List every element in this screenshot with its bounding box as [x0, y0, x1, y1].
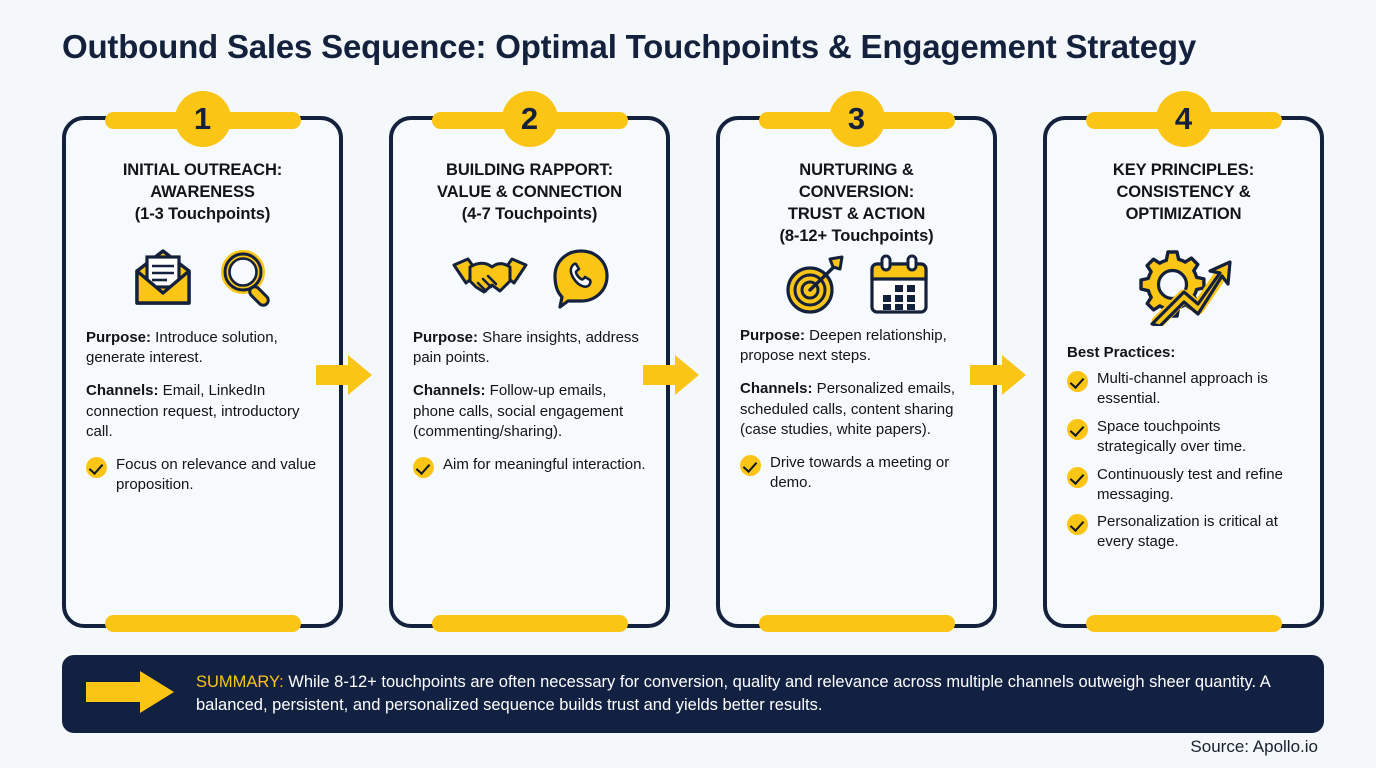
bullet-text: Multi-channel approach is essential. — [1097, 369, 1300, 409]
bullet-text: Personalization is critical at every sta… — [1097, 512, 1300, 552]
list-item: Multi-channel approach is essential. — [1067, 369, 1300, 409]
connector-arrow-1-2 — [316, 353, 372, 397]
card-body: Purpose: Introduce solution, generate in… — [82, 328, 323, 495]
card-heading: NURTURING & CONVERSION: TRUST & ACTION (… — [736, 160, 977, 248]
card-bottom-bar — [1086, 615, 1282, 632]
check-icon — [1067, 371, 1088, 392]
stage-card-4[interactable]: 4 KEY PRINCIPLES: CONSISTENCY & OPTIMIZA… — [1043, 116, 1324, 628]
channels-label: Channels: — [413, 382, 486, 399]
gear-growth-arrow-icon — [1132, 244, 1236, 326]
best-practices-label: Best Practices: — [1067, 344, 1300, 361]
step-number-badge: 2 — [502, 91, 558, 147]
summary-body: While 8-12+ touchpoints are often necess… — [196, 673, 1270, 714]
card-icon-row — [1063, 242, 1304, 328]
card-heading-line-1: KEY PRINCIPLES: — [1063, 160, 1304, 182]
list-item: Focus on relevance and value proposition… — [86, 455, 319, 495]
card-heading-line-2: CONVERSION: — [736, 182, 977, 204]
stage-card-1[interactable]: 1 INITIAL OUTREACH: AWARENESS (1-3 Touch… — [62, 116, 343, 628]
calendar-icon — [867, 254, 931, 316]
magnifier-icon — [217, 247, 279, 309]
check-icon — [740, 455, 761, 476]
card-bullets: Focus on relevance and value proposition… — [86, 455, 319, 495]
channels-paragraph: Channels: Follow-up emails, phone calls,… — [413, 381, 646, 442]
card-heading-touchpoints: (4-7 Touchpoints) — [409, 204, 650, 226]
card-icon-row — [409, 238, 650, 318]
card-heading-line-2b: OPTIMIZATION — [1063, 204, 1304, 226]
card-bottom-bar — [432, 615, 628, 632]
bullet-text: Continuously test and refine messaging. — [1097, 465, 1300, 505]
check-icon — [1067, 514, 1088, 535]
channels-paragraph: Channels: Personalized emails, scheduled… — [740, 379, 973, 440]
summary-keyword: SUMMARY: — [196, 673, 284, 691]
purpose-paragraph: Purpose: Share insights, address pain po… — [413, 328, 646, 369]
connector-arrow-3-4 — [970, 353, 1026, 397]
summary-arrow-icon — [84, 669, 176, 720]
card-heading-line-2: CONSISTENCY & — [1063, 182, 1304, 204]
card-heading-line-2: VALUE & CONNECTION — [409, 182, 650, 204]
card-icon-row — [82, 238, 323, 318]
page-title: Outbound Sales Sequence: Optimal Touchpo… — [62, 28, 1342, 66]
list-item: Personalization is critical at every sta… — [1067, 512, 1300, 552]
handshake-icon — [448, 249, 532, 307]
card-bullets: Drive towards a meeting or demo. — [740, 453, 973, 493]
purpose-label: Purpose: — [740, 327, 805, 344]
source-label: Source: Apollo.io — [1190, 737, 1318, 757]
step-number-badge: 3 — [829, 91, 885, 147]
check-icon — [1067, 467, 1088, 488]
card-bottom-bar — [105, 615, 301, 632]
card-heading-touchpoints: (1-3 Touchpoints) — [82, 204, 323, 226]
card-heading: INITIAL OUTREACH: AWARENESS (1-3 Touchpo… — [82, 160, 323, 226]
list-item: Continuously test and refine messaging. — [1067, 465, 1300, 505]
summary-bar: SUMMARY: While 8-12+ touchpoints are oft… — [62, 655, 1324, 733]
purpose-label: Purpose: — [86, 329, 151, 346]
stage-card-2[interactable]: 2 BUILDING RAPPORT: VALUE & CONNECTION (… — [389, 116, 670, 628]
card-heading-line-1: NURTURING & — [736, 160, 977, 182]
channels-label: Channels: — [740, 380, 813, 397]
connector-arrow-2-3 — [643, 353, 699, 397]
card-heading-line-1: INITIAL OUTREACH: — [82, 160, 323, 182]
summary-text: SUMMARY: While 8-12+ touchpoints are oft… — [196, 671, 1302, 718]
channels-paragraph: Channels: Email, LinkedIn connection req… — [86, 381, 319, 442]
list-item: Aim for meaningful interaction. — [413, 455, 646, 478]
list-item: Space touchpoints strategically over tim… — [1067, 417, 1300, 457]
card-heading-line-1: BUILDING RAPPORT: — [409, 160, 650, 182]
card-heading: KEY PRINCIPLES: CONSISTENCY & OPTIMIZATI… — [1063, 160, 1304, 226]
card-heading: BUILDING RAPPORT: VALUE & CONNECTION (4-… — [409, 160, 650, 226]
step-number-badge: 1 — [175, 91, 231, 147]
purpose-paragraph: Purpose: Introduce solution, generate in… — [86, 328, 319, 369]
bullet-text: Drive towards a meeting or demo. — [770, 453, 973, 493]
bullet-text: Focus on relevance and value proposition… — [116, 455, 319, 495]
card-heading-line-2b: TRUST & ACTION — [736, 204, 977, 226]
target-arrow-icon — [783, 254, 849, 316]
channels-label: Channels: — [86, 382, 159, 399]
purpose-label: Purpose: — [413, 329, 478, 346]
card-bullets: Aim for meaningful interaction. — [413, 455, 646, 478]
phone-chat-icon — [550, 247, 612, 309]
step-number-badge: 4 — [1156, 91, 1212, 147]
card-bottom-bar — [759, 615, 955, 632]
check-icon — [413, 457, 434, 478]
card-bullets: Multi-channel approach is essential. Spa… — [1067, 369, 1300, 553]
check-icon — [1067, 419, 1088, 440]
purpose-paragraph: Purpose: Deepen relationship, propose ne… — [740, 326, 973, 367]
card-body: Best Practices: Multi-channel approach i… — [1063, 344, 1304, 553]
list-item: Drive towards a meeting or demo. — [740, 453, 973, 493]
card-icon-row — [736, 254, 977, 316]
card-heading-line-2: AWARENESS — [82, 182, 323, 204]
stage-card-3[interactable]: 3 NURTURING & CONVERSION: TRUST & ACTION… — [716, 116, 997, 628]
card-heading-touchpoints: (8-12+ Touchpoints) — [736, 226, 977, 248]
card-body: Purpose: Deepen relationship, propose ne… — [736, 326, 977, 493]
check-icon — [86, 457, 107, 478]
card-body: Purpose: Share insights, address pain po… — [409, 328, 650, 478]
bullet-text: Aim for meaningful interaction. — [443, 455, 646, 475]
open-envelope-icon — [127, 247, 199, 309]
bullet-text: Space touchpoints strategically over tim… — [1097, 417, 1300, 457]
